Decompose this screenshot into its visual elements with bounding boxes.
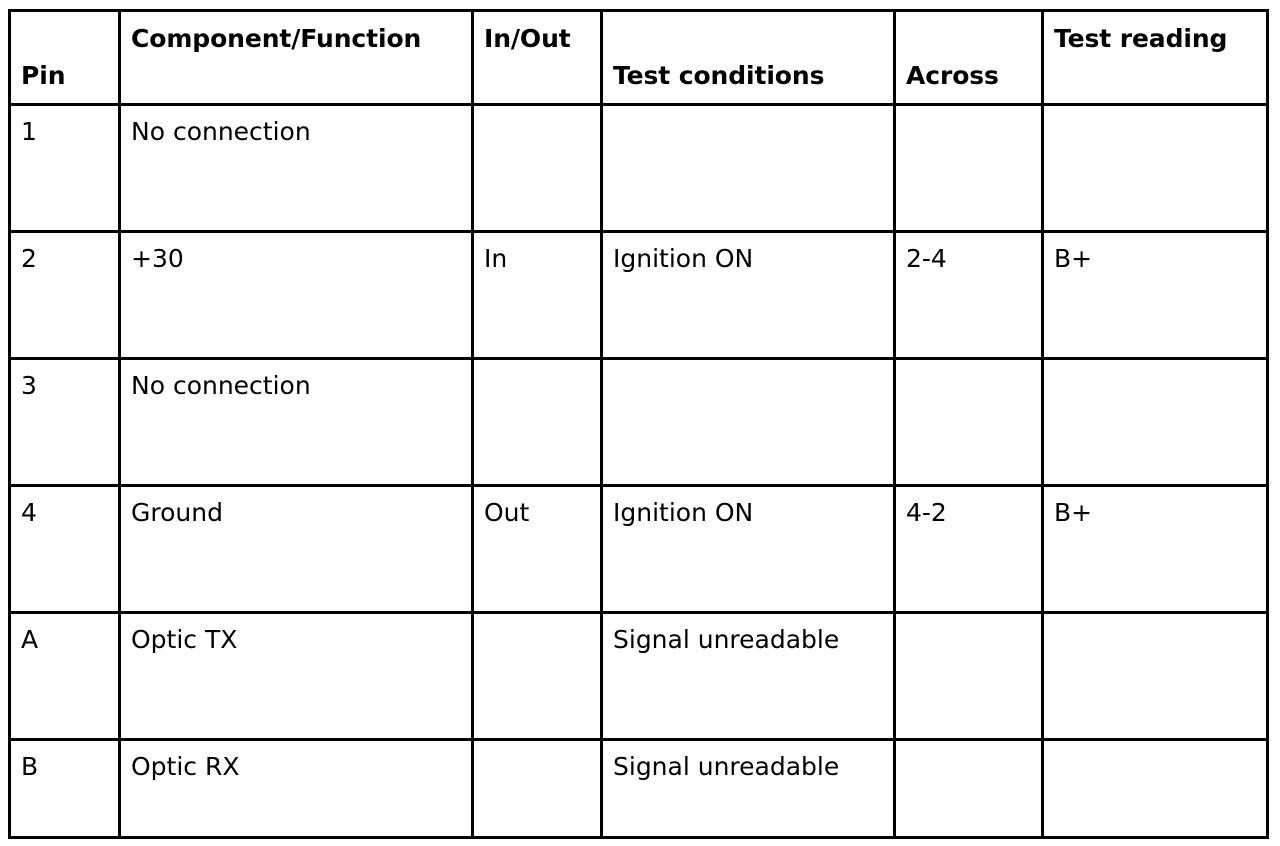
table-row: A Optic TX Signal unreadable xyxy=(10,613,1268,740)
cell-pin: B xyxy=(10,740,120,838)
column-header-reading-label: Test reading xyxy=(1054,24,1262,54)
cell-conditions: Ignition ON xyxy=(602,232,895,359)
column-header-component-label: Component/Function xyxy=(131,24,467,54)
cell-pin-text: 3 xyxy=(21,371,114,401)
cell-reading: B+ xyxy=(1043,232,1268,359)
table-row: 1 No connection xyxy=(10,105,1268,232)
cell-reading-text: B+ xyxy=(1054,498,1262,528)
cell-component: +30 xyxy=(120,232,473,359)
cell-component-text: Ground xyxy=(131,498,467,528)
cell-across: 4-2 xyxy=(895,486,1043,613)
column-header-inout: In/Out xyxy=(473,11,602,105)
cell-component-text: No connection xyxy=(131,371,467,401)
cell-conditions xyxy=(602,105,895,232)
cell-across xyxy=(895,359,1043,486)
cell-across-text: 4-2 xyxy=(906,498,1037,528)
cell-reading: B+ xyxy=(1043,486,1268,613)
cell-reading xyxy=(1043,105,1268,232)
cell-inout xyxy=(473,740,602,838)
table-row: 2 +30 In Ignition ON 2-4 B+ xyxy=(10,232,1268,359)
cell-pin: A xyxy=(10,613,120,740)
cell-conditions-text: Signal unreadable xyxy=(613,625,889,655)
cell-reading xyxy=(1043,613,1268,740)
cell-inout-text: In xyxy=(484,244,596,274)
cell-pin: 2 xyxy=(10,232,120,359)
cell-component-text: +30 xyxy=(131,244,467,274)
header-row: Pin Component/Function In/Out Test condi… xyxy=(10,11,1268,105)
column-header-pin: Pin xyxy=(10,11,120,105)
table-row: B Optic RX Signal unreadable xyxy=(10,740,1268,838)
cell-inout-text: Out xyxy=(484,498,596,528)
cell-conditions: Signal unreadable xyxy=(602,740,895,838)
cell-reading xyxy=(1043,359,1268,486)
cell-inout: Out xyxy=(473,486,602,613)
cell-inout xyxy=(473,613,602,740)
cell-conditions-text: Ignition ON xyxy=(613,498,889,528)
cell-reading xyxy=(1043,740,1268,838)
cell-pin-text: 2 xyxy=(21,244,114,274)
cell-across-text: 2-4 xyxy=(906,244,1037,274)
cell-reading-text: B+ xyxy=(1054,244,1262,274)
cell-component: Optic RX xyxy=(120,740,473,838)
cell-component: Optic TX xyxy=(120,613,473,740)
cell-component-text: Optic RX xyxy=(131,752,467,782)
cell-component-text: No connection xyxy=(131,117,467,147)
table-row: 4 Ground Out Ignition ON 4-2 B+ xyxy=(10,486,1268,613)
column-header-component: Component/Function xyxy=(120,11,473,105)
cell-component: No connection xyxy=(120,359,473,486)
cell-across xyxy=(895,613,1043,740)
column-header-pin-label: Pin xyxy=(21,61,114,91)
cell-across: 2-4 xyxy=(895,232,1043,359)
cell-across xyxy=(895,105,1043,232)
cell-conditions-text: Ignition ON xyxy=(613,244,889,274)
cell-conditions xyxy=(602,359,895,486)
cell-conditions-text: Signal unreadable xyxy=(613,752,889,782)
cell-pin-text: 4 xyxy=(21,498,114,528)
cell-pin-text: A xyxy=(21,625,114,655)
cell-component: Ground xyxy=(120,486,473,613)
table-body: 1 No connection 2 +30 xyxy=(10,105,1268,838)
column-header-conditions: Test conditions xyxy=(602,11,895,105)
cell-component: No connection xyxy=(120,105,473,232)
cell-inout: In xyxy=(473,232,602,359)
pinout-table: Pin Component/Function In/Out Test condi… xyxy=(8,9,1269,839)
cell-pin-text: B xyxy=(21,752,114,782)
cell-conditions: Ignition ON xyxy=(602,486,895,613)
cell-pin-text: 1 xyxy=(21,117,114,147)
cell-pin: 3 xyxy=(10,359,120,486)
column-header-across: Across xyxy=(895,11,1043,105)
table-header: Pin Component/Function In/Out Test condi… xyxy=(10,11,1268,105)
cell-across xyxy=(895,740,1043,838)
cell-pin: 1 xyxy=(10,105,120,232)
table-row: 3 No connection xyxy=(10,359,1268,486)
column-header-conditions-label: Test conditions xyxy=(613,61,889,91)
cell-inout xyxy=(473,105,602,232)
column-header-reading: Test reading xyxy=(1043,11,1268,105)
column-header-across-label: Across xyxy=(906,61,1037,91)
cell-conditions: Signal unreadable xyxy=(602,613,895,740)
cell-pin: 4 xyxy=(10,486,120,613)
column-header-inout-label: In/Out xyxy=(484,24,596,54)
cell-inout xyxy=(473,359,602,486)
cell-component-text: Optic TX xyxy=(131,625,467,655)
